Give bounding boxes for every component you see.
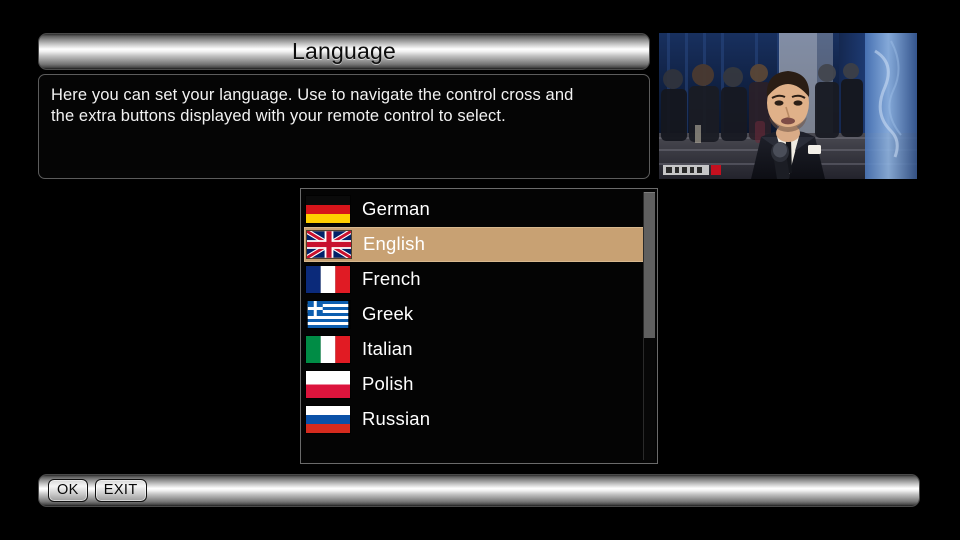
language-item-polish[interactable]: Polish — [304, 367, 644, 402]
flag-pl-icon — [306, 371, 350, 398]
language-item-label: Italian — [362, 340, 413, 359]
list-scrollbar-thumb[interactable] — [644, 192, 655, 338]
list-scrollbar[interactable] — [643, 192, 655, 460]
title-bar: Language — [38, 33, 650, 70]
description-text: Here you can set your language. Use to n… — [51, 85, 637, 127]
language-item-label: German — [362, 200, 430, 219]
ok-button-label: OK — [57, 483, 79, 498]
osd-screen: Language Here you can set your language.… — [0, 0, 960, 540]
language-item-french[interactable]: French — [304, 262, 644, 297]
video-frame — [659, 33, 917, 179]
flag-gb-icon — [307, 231, 351, 258]
description-panel: Here you can set your language. Use to n… — [38, 74, 650, 179]
language-item-label: French — [362, 270, 421, 289]
flag-gr-icon — [306, 301, 350, 328]
language-item-label: Russian — [362, 410, 430, 429]
exit-button[interactable]: EXIT — [95, 479, 147, 502]
flag-it-icon — [306, 336, 350, 363]
live-tv-preview[interactable] — [659, 33, 917, 179]
channel-bug — [663, 165, 721, 175]
flag-de-icon — [306, 196, 350, 223]
language-item-english[interactable]: English — [304, 227, 644, 262]
language-item-label: English — [363, 235, 425, 254]
footer-bar: OK EXIT — [38, 474, 920, 507]
flag-ru-icon — [306, 406, 350, 433]
language-item-russian[interactable]: Russian — [304, 402, 644, 437]
exit-button-label: EXIT — [104, 483, 138, 498]
flag-fr-icon — [306, 266, 350, 293]
ok-button[interactable]: OK — [48, 479, 88, 502]
language-item-label: Polish — [362, 375, 414, 394]
language-item-greek[interactable]: Greek — [304, 297, 644, 332]
language-item-german[interactable]: German — [304, 192, 644, 227]
language-item-italian[interactable]: Italian — [304, 332, 644, 367]
language-list: GermanEnglishFrenchGreekItalianPolishRus… — [304, 192, 646, 437]
language-list-panel[interactable]: GermanEnglishFrenchGreekItalianPolishRus… — [300, 188, 658, 464]
page-title: Language — [292, 40, 396, 63]
language-item-label: Greek — [362, 305, 413, 324]
